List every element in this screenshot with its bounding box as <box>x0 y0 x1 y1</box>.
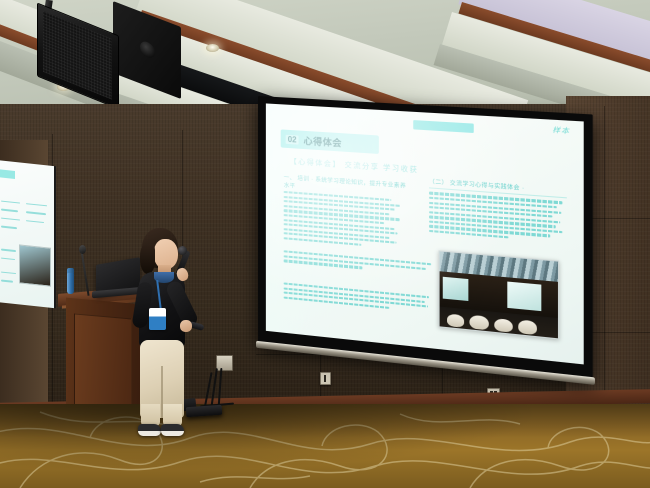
secondary-screen-line <box>1 209 18 212</box>
main-projection-screen: 样本 02 心得体会 【心得体会】 交流分享 学习收获 一、 培训 · 系统学习… <box>258 96 593 380</box>
presenter-hair-side <box>140 244 155 274</box>
slide-bottom-block-1 <box>284 251 432 276</box>
secondary-screen-line <box>1 217 20 221</box>
secondary-screen-line <box>1 226 17 229</box>
presenter-left-shoe <box>138 424 161 436</box>
slide-top-chip <box>413 120 474 134</box>
secondary-screen-line <box>1 280 14 283</box>
slide-left-body <box>284 191 407 250</box>
carpet-floor <box>0 404 650 488</box>
left-secondary-screen <box>0 160 56 308</box>
presenter-right-shoe <box>161 424 184 436</box>
screen-surface: 样本 02 心得体会 【心得体会】 交流分享 学习收获 一、 培训 · 系统学习… <box>266 103 584 364</box>
presenter-right-leg <box>163 404 182 426</box>
photo-screen-right <box>507 281 540 310</box>
slide-right-column: （二） 交流学习心得与实践体会 · <box>429 177 567 243</box>
secondary-screen-line <box>1 271 16 274</box>
slide-embedded-photo <box>439 250 559 340</box>
presentation-room-photo: 样本 02 心得体会 【心得体会】 交流分享 学习收获 一、 培训 · 系统学习… <box>0 0 650 488</box>
secondary-screen-line <box>26 203 47 207</box>
secondary-screen-line <box>1 257 15 260</box>
secondary-screen-line <box>1 200 21 204</box>
wall-outlet-left[interactable] <box>320 372 331 385</box>
speaker-port-icon <box>140 39 155 60</box>
slide-subtitle: 【心得体会】 交流分享 学习收获 <box>290 156 419 175</box>
secondary-screen-line <box>26 220 43 223</box>
slide-bottom-block-2 <box>284 282 432 313</box>
photo-head <box>470 314 489 330</box>
right-wall-seam-1 <box>604 106 605 404</box>
conference-badge <box>149 308 166 330</box>
floor-shading <box>0 404 650 488</box>
secondary-screen-header-chip <box>0 169 15 179</box>
photo-head <box>518 319 537 335</box>
photo-head <box>494 318 512 333</box>
water-bottle-cap <box>67 268 74 273</box>
av-wall-plate[interactable] <box>216 355 233 371</box>
slide-section-number: 02 <box>286 134 299 144</box>
presenter <box>118 228 210 458</box>
slide-right-body <box>429 192 567 243</box>
presentation-slide: 样本 02 心得体会 【心得体会】 交流分享 学习收获 一、 培训 · 系统学习… <box>266 103 584 364</box>
presenter-left-leg <box>141 404 160 426</box>
secondary-screen-line <box>26 211 46 215</box>
water-bottle <box>67 272 74 294</box>
downlight-icon-2 <box>206 44 219 52</box>
slide-left-column: 一、 培训 · 系统学习理论知识，提升专业素养水平 <box>284 173 407 250</box>
slide-section-header: 02 心得体会 <box>281 129 379 154</box>
secondary-screen-photo <box>19 245 51 287</box>
gooseneck-microphone-head <box>79 245 86 254</box>
presenter-left-hand <box>180 320 192 332</box>
slide-corner-mark: 样本 <box>552 125 570 137</box>
photo-screen-left <box>443 277 469 301</box>
photo-head <box>447 314 464 328</box>
secondary-screen-line <box>1 249 16 252</box>
microphone-head <box>178 246 187 255</box>
slide-section-title: 心得体会 <box>304 133 342 149</box>
